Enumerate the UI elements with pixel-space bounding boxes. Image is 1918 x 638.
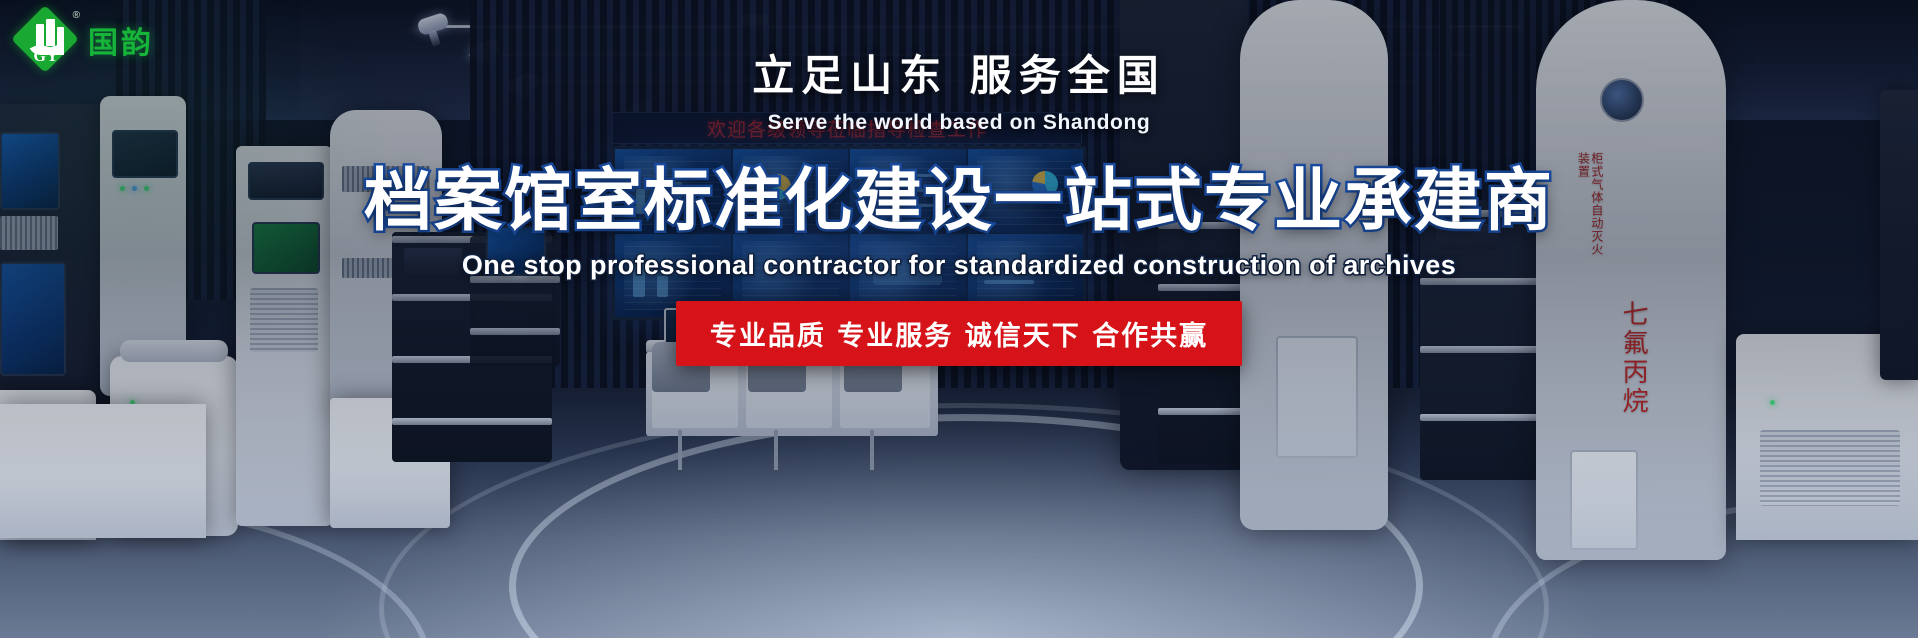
hero-banner: 欢迎各级领导莅临指导检查工作 xyxy=(0,0,1918,638)
hero-slogan-cn: 立足山东 服务全国 xyxy=(0,42,1918,103)
logo-building-icon xyxy=(46,19,55,46)
site-logo[interactable]: GY ® 国韵 xyxy=(14,8,154,72)
logo-gy-text: GY xyxy=(14,48,78,66)
registered-mark: ® xyxy=(73,10,80,21)
logo-building-icon xyxy=(57,27,64,46)
hero-slogan-en: Serve the world based on Shandong xyxy=(0,111,1918,135)
hero-copy: 立足山东 服务全国 Serve the world based on Shand… xyxy=(0,0,1918,366)
hero-cta-button[interactable]: 专业品质 专业服务 诚信天下 合作共赢 xyxy=(676,301,1242,366)
logo-diamond-icon: GY ® xyxy=(14,8,78,72)
logo-building-icon xyxy=(36,24,44,46)
cta-container: 专业品质 专业服务 诚信天下 合作共赢 xyxy=(0,301,1918,366)
logo-brand-text: 国韵 xyxy=(88,18,154,62)
hero-headline-en: One stop professional contractor for sta… xyxy=(0,250,1918,281)
hero-headline-cn: 档案馆室标准化建设一站式专业承建商 xyxy=(0,145,1918,244)
